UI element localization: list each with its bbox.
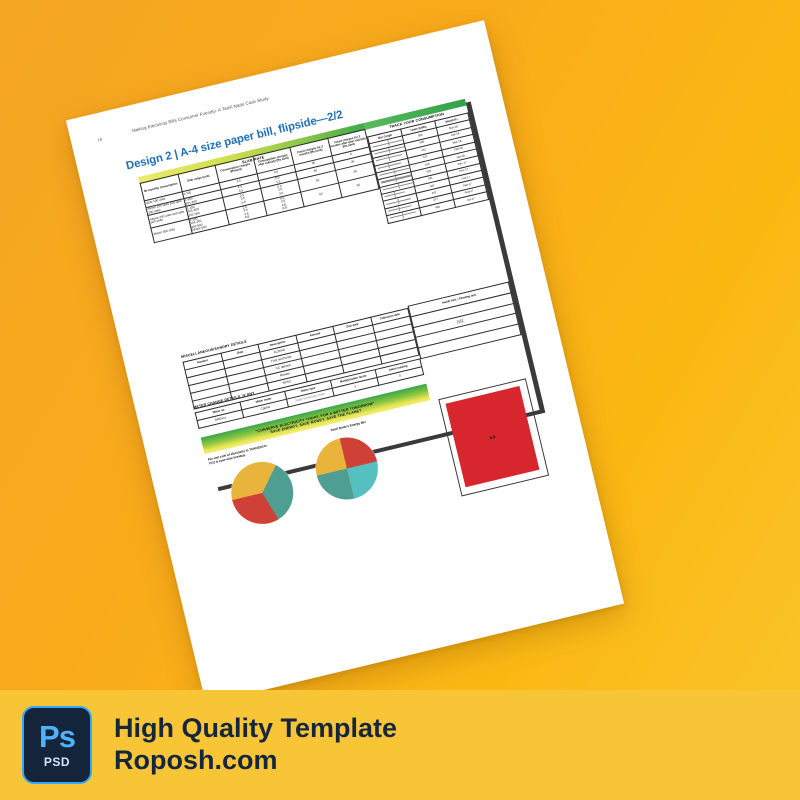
branding-line-2: Roposh.com [114,745,397,777]
pie-chart-energy-mix [310,431,385,506]
pie-right-label: Tamil Nadu's Energy Mix [330,420,366,432]
branding-line-1: High Quality Template [114,713,397,745]
document-page: 16 Making Electricity Bills Consumer Fri… [66,20,624,704]
page-sheet: 16 Making Electricity Bills Consumer Fri… [66,20,624,704]
branding-text: High Quality Template Roposh.com [114,713,397,777]
slab-rate-table: Bi-monthly consumptionSlab range (unit)C… [140,129,380,244]
branding-bar: Ps PSD High Quality Template Roposh.com [0,690,800,800]
psd-label: PSD [44,755,70,769]
pie-chart-cost-breakup [225,456,300,531]
canvas: 16 Making Electricity Bills Consumer Fri… [0,0,800,800]
ad-label: AD [489,433,497,439]
running-head: Making Electricity Bills Consumer Friend… [132,96,270,134]
page-number: 16 [97,137,103,143]
ps-glyph: Ps [39,721,75,752]
photoshop-psd-icon: Ps PSD [22,706,92,784]
